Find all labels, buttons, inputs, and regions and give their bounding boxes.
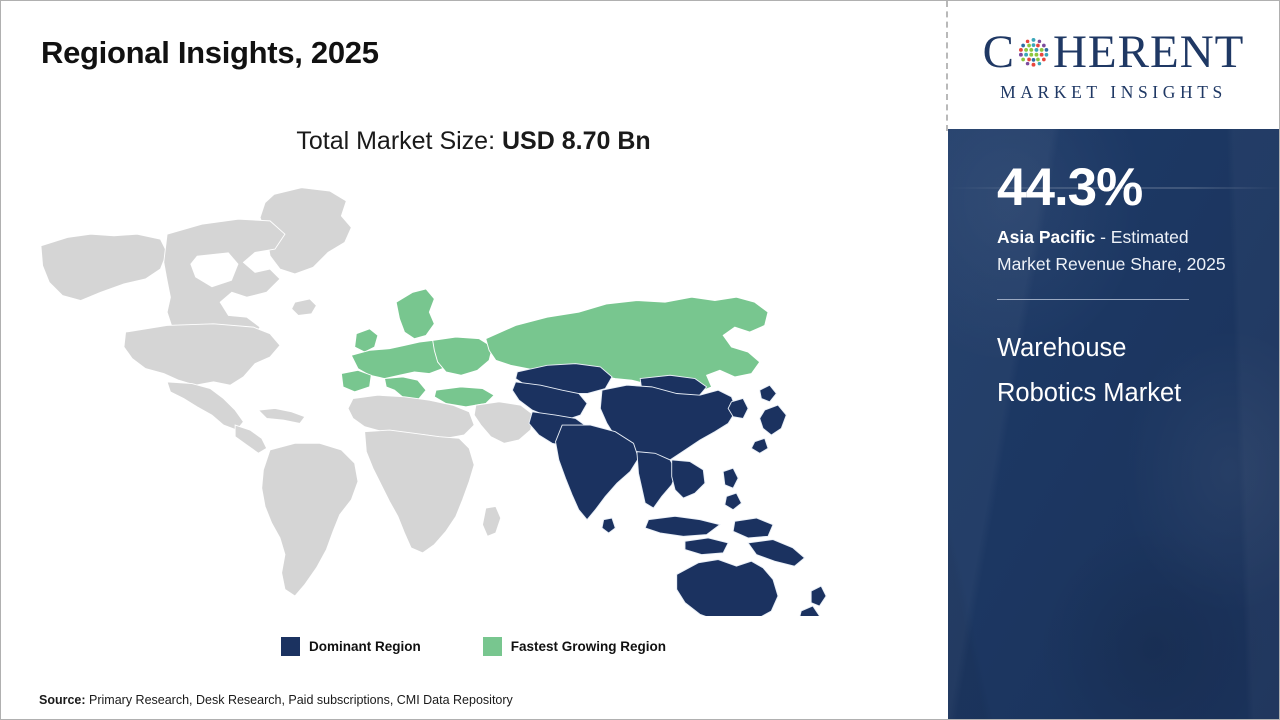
stat-panel: 44.3% Asia Pacific - Estimated Market Re… <box>948 129 1279 719</box>
region-new-guinea <box>748 540 804 567</box>
map-legend: Dominant Region Fastest Growing Region <box>1 637 946 656</box>
region-japan <box>751 385 786 453</box>
stat-region-name: Asia Pacific <box>997 227 1095 247</box>
stat-divider-rule <box>997 299 1189 300</box>
page-title: Regional Insights, 2025 <box>41 35 379 71</box>
left-content-pane: Regional Insights, 2025 Total Market Siz… <box>1 1 946 719</box>
stat-description: Asia Pacific - Estimated Market Revenue … <box>997 224 1232 277</box>
region-uk-ireland <box>355 329 378 352</box>
region-central-america <box>235 425 267 453</box>
globe-icon <box>1015 34 1052 71</box>
stat-panel-content: 44.3% Asia Pacific - Estimated Market Re… <box>948 129 1279 416</box>
legend-item-dominant: Dominant Region <box>281 637 421 656</box>
world-map-svg <box>21 176 851 616</box>
logo-subtitle: MARKET INSIGHTS <box>1000 82 1227 103</box>
total-market-size-label: Total Market Size: <box>296 127 502 155</box>
source-label: Source: <box>39 693 86 707</box>
region-eastern-europe <box>433 337 493 375</box>
legend-label-fastest-growing: Fastest Growing Region <box>511 639 666 654</box>
region-philippines <box>723 468 741 510</box>
region-mexico <box>167 382 243 430</box>
legend-swatch-fastest-icon <box>483 637 502 656</box>
region-india <box>556 425 639 520</box>
total-market-size-value: USD 8.70 Bn <box>502 127 651 155</box>
region-alaska <box>41 234 167 300</box>
region-scandinavia <box>396 289 434 339</box>
logo-wordmark: C <box>983 28 1245 78</box>
region-myanmar-thailand <box>637 452 677 508</box>
region-new-zealand <box>798 586 826 616</box>
world-map <box>21 176 851 616</box>
region-iceland <box>292 299 317 316</box>
legend-item-fastest-growing: Fastest Growing Region <box>483 637 666 656</box>
stat-value: 44.3% <box>997 161 1249 215</box>
region-sri-lanka <box>602 518 615 533</box>
legend-swatch-dominant-icon <box>281 637 300 656</box>
market-name: Warehouse Robotics Market <box>997 326 1207 416</box>
region-iberia <box>341 370 371 392</box>
slide-canvas: Regional Insights, 2025 Total Market Siz… <box>0 0 1280 720</box>
region-sub-saharan-africa <box>365 430 475 553</box>
total-market-size: Total Market Size: USD 8.70 Bn <box>1 127 946 156</box>
region-indochina <box>672 460 705 498</box>
source-text: Primary Research, Desk Research, Paid su… <box>86 693 513 707</box>
region-caribbean <box>258 408 304 423</box>
region-middle-east <box>474 402 534 444</box>
source-note: Source: Primary Research, Desk Research,… <box>39 693 513 707</box>
region-madagascar <box>482 506 500 536</box>
region-south-america <box>262 443 358 596</box>
brand-logo: C <box>948 1 1279 129</box>
logo-letter-c: C <box>983 29 1015 76</box>
region-australia <box>677 560 778 616</box>
logo-letters-rest: HERENT <box>1053 29 1244 76</box>
legend-label-dominant: Dominant Region <box>309 639 421 654</box>
region-united-states <box>124 324 280 385</box>
